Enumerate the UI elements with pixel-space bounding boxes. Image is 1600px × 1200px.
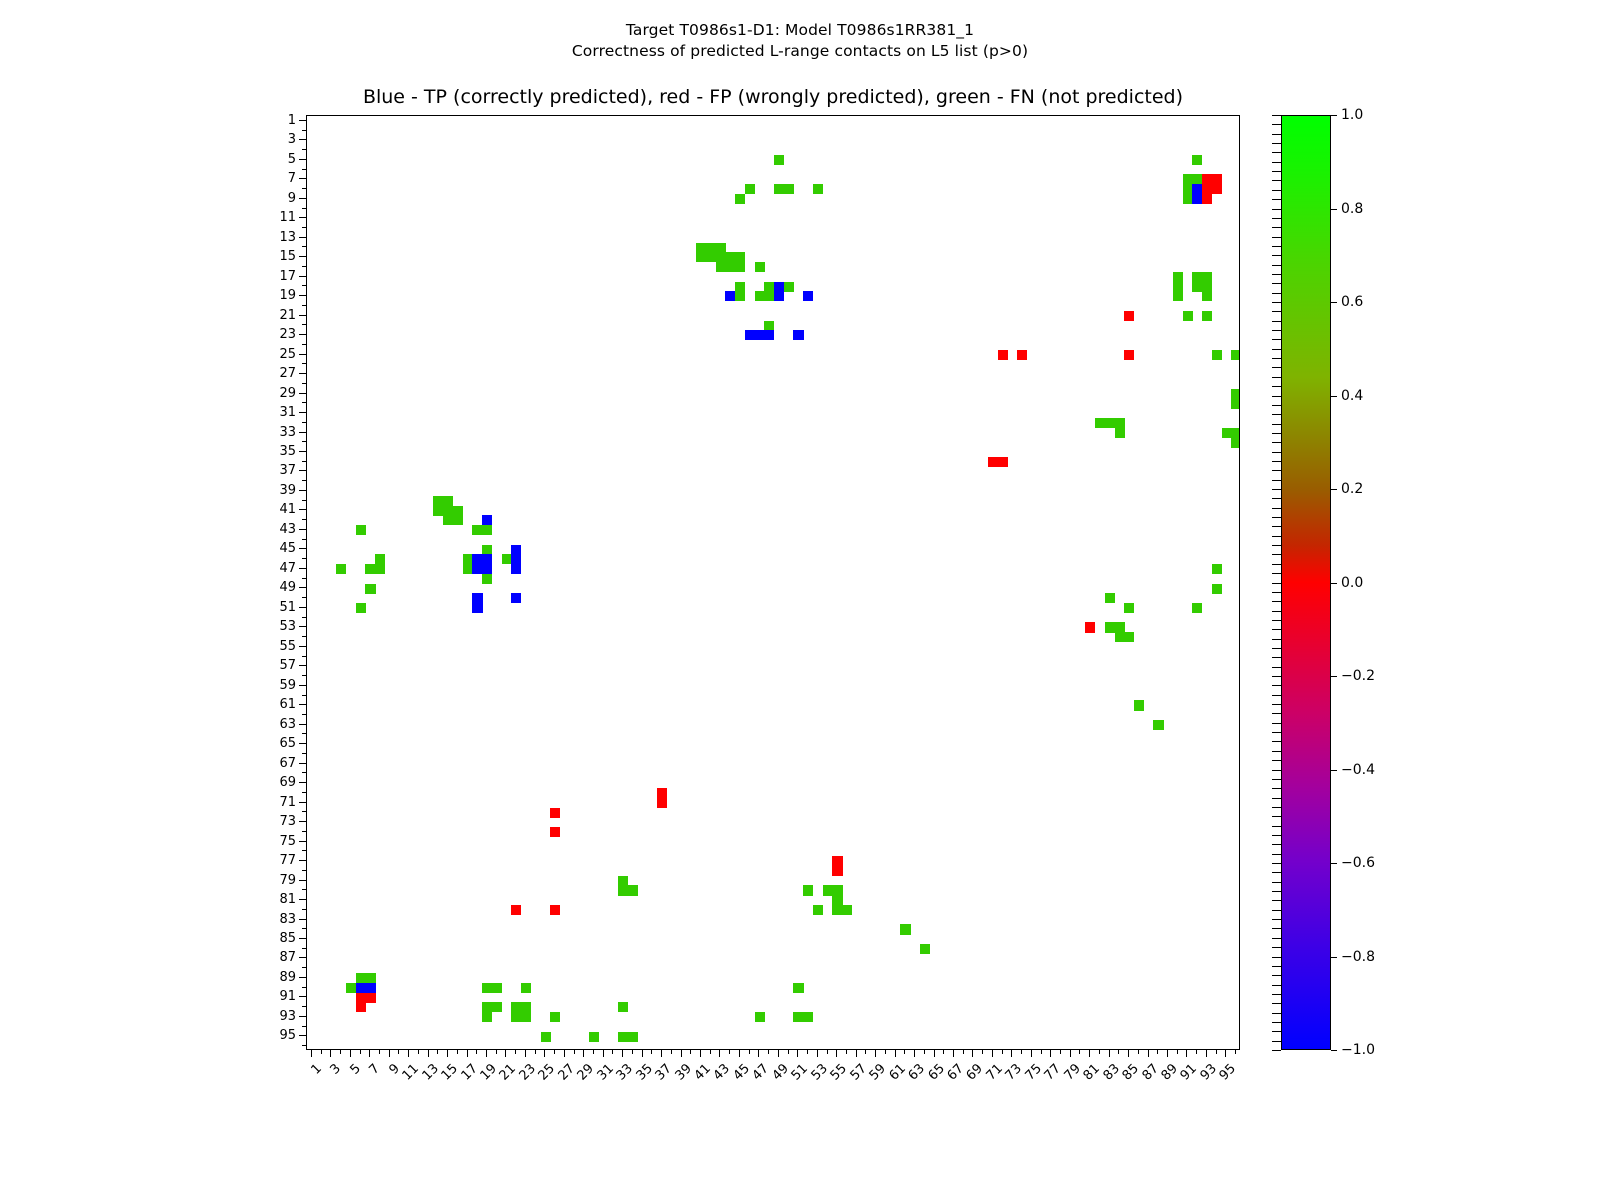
contact-cell-fn — [482, 1002, 492, 1012]
contact-cell-fn — [1124, 632, 1134, 642]
contact-cell-fn — [793, 1012, 803, 1022]
colorbar-minor-tick — [1272, 190, 1281, 191]
contact-cell-fn — [482, 983, 492, 993]
colorbar-minor-tick — [1272, 676, 1281, 677]
contact-cell-fn — [832, 905, 842, 915]
colorbar-minor-tick — [1272, 1003, 1281, 1004]
x-tick-18 — [476, 1050, 477, 1054]
contact-cell-tp — [725, 291, 735, 301]
y-tick-95 — [299, 1035, 306, 1036]
colorbar-minor-tick — [1272, 835, 1281, 836]
x-tick-50 — [788, 1050, 789, 1054]
x-tick-16 — [457, 1050, 458, 1054]
colorbar-tick--0.2 — [1331, 676, 1337, 677]
colorbar-minor-tick — [1272, 732, 1281, 733]
x-tick-28 — [574, 1050, 575, 1054]
colorbar-tick-0.0 — [1331, 583, 1337, 584]
contact-cell-fn — [463, 554, 473, 564]
figure-title-line-1: Target T0986s1-D1: Model T0986s1RR381_1 — [0, 20, 1600, 41]
y-tick-label-51: 51 — [248, 601, 296, 614]
y-tick-94 — [302, 1026, 306, 1027]
colorbar-minor-tick — [1272, 601, 1281, 602]
x-tick-94 — [1216, 1050, 1217, 1054]
contact-cell-fn — [1212, 584, 1222, 594]
y-tick-62 — [302, 714, 306, 715]
x-tick-33 — [622, 1050, 623, 1057]
contact-cell-fn — [735, 282, 745, 292]
y-tick-17 — [299, 276, 306, 277]
contact-cell-fn — [375, 554, 385, 564]
colorbar-minor-tick — [1272, 405, 1281, 406]
x-tick-69 — [972, 1050, 973, 1057]
x-tick-85 — [1128, 1050, 1129, 1057]
x-tick-20 — [496, 1050, 497, 1054]
x-tick-44 — [729, 1050, 730, 1054]
contact-cell-fn — [365, 973, 375, 983]
y-tick-59 — [299, 685, 306, 686]
contact-cell-tp — [472, 603, 482, 613]
x-tick-84 — [1118, 1050, 1119, 1054]
contact-cell-fn — [813, 184, 823, 194]
colorbar-minor-tick — [1272, 536, 1281, 537]
colorbar-minor-tick — [1272, 508, 1281, 509]
colorbar-minor-tick — [1272, 489, 1281, 490]
y-tick-47 — [299, 568, 306, 569]
contact-cell-fn — [1095, 418, 1105, 428]
y-tick-53 — [299, 626, 306, 627]
y-tick-label-31: 31 — [248, 406, 296, 419]
x-tick-70 — [982, 1050, 983, 1054]
y-tick-21 — [299, 315, 306, 316]
colorbar-minor-tick — [1272, 611, 1281, 612]
y-tick-44 — [302, 539, 306, 540]
y-tick-2 — [302, 130, 306, 131]
contact-cell-tp — [511, 564, 521, 574]
contact-cell-fn — [356, 525, 366, 535]
contact-cell-fp — [1212, 174, 1222, 184]
colorbar-tick-label--1.0: −1.0 — [1341, 1043, 1375, 1057]
x-tick-81 — [1089, 1050, 1090, 1057]
y-tick-26 — [302, 363, 306, 364]
y-tick-label-25: 25 — [248, 348, 296, 361]
x-tick-11 — [408, 1050, 409, 1057]
x-tick-31 — [603, 1050, 604, 1057]
contact-cell-fn — [628, 885, 638, 895]
contact-cell-fp — [356, 1002, 366, 1012]
contact-cell-fn — [521, 983, 531, 993]
x-tick-90 — [1177, 1050, 1178, 1054]
colorbar-tick-label-0.6: 0.6 — [1341, 295, 1363, 309]
colorbar-minor-tick — [1272, 265, 1281, 266]
contact-cell-fn — [1192, 174, 1202, 184]
contact-cell-fn — [472, 525, 482, 535]
colorbar-minor-tick — [1272, 639, 1281, 640]
y-tick-label-3: 3 — [248, 133, 296, 146]
contact-cell-tp — [1192, 184, 1202, 194]
x-tick-6 — [360, 1050, 361, 1054]
y-tick-label-83: 83 — [248, 913, 296, 926]
contact-cell-fn — [1231, 428, 1240, 438]
x-tick-1 — [311, 1050, 312, 1057]
contact-cell-tp — [472, 554, 482, 564]
y-tick-label-71: 71 — [248, 796, 296, 809]
x-tick-12 — [418, 1050, 419, 1054]
colorbar-minor-tick — [1272, 564, 1281, 565]
x-tick-55 — [836, 1050, 837, 1057]
x-tick-22 — [515, 1050, 516, 1054]
y-tick-84 — [302, 928, 306, 929]
contact-cell-fn — [618, 1002, 628, 1012]
x-tick-15 — [447, 1050, 448, 1057]
colorbar-tick-label-1.0: 1.0 — [1341, 108, 1363, 122]
y-tick-label-87: 87 — [248, 951, 296, 964]
colorbar-minor-tick — [1272, 199, 1281, 200]
contact-cell-fn — [735, 291, 745, 301]
contact-cell-fn — [1115, 428, 1125, 438]
colorbar-minor-tick — [1272, 115, 1281, 116]
colorbar-minor-tick — [1272, 620, 1281, 621]
contact-cell-fn — [1173, 272, 1183, 282]
axes-legend-title: Blue - TP (correctly predicted), red - F… — [306, 86, 1240, 108]
contact-cell-fn — [541, 1032, 551, 1042]
y-tick-64 — [302, 733, 306, 734]
colorbar-minor-tick — [1272, 526, 1281, 527]
y-tick-9 — [299, 198, 306, 199]
x-tick-57 — [856, 1050, 857, 1057]
colorbar-minor-tick — [1272, 629, 1281, 630]
contact-cell-fn — [842, 905, 852, 915]
y-tick-38 — [302, 480, 306, 481]
colorbar-tick--0.8 — [1331, 957, 1337, 958]
y-tick-14 — [302, 246, 306, 247]
y-tick-42 — [302, 519, 306, 520]
contact-cell-fn — [492, 983, 502, 993]
x-tick-36 — [651, 1050, 652, 1054]
x-tick-47 — [758, 1050, 759, 1057]
x-tick-59 — [875, 1050, 876, 1057]
y-tick-58 — [302, 675, 306, 676]
y-tick-label-61: 61 — [248, 698, 296, 711]
x-tick-2 — [321, 1050, 322, 1054]
x-tick-40 — [690, 1050, 691, 1054]
contact-cell-fn — [511, 1012, 521, 1022]
colorbar-minor-tick — [1272, 573, 1281, 574]
y-tick-86 — [302, 948, 306, 949]
contact-cell-fn — [1192, 282, 1202, 292]
x-tick-86 — [1138, 1050, 1139, 1054]
contact-cell-fn — [784, 184, 794, 194]
contact-cell-fn — [716, 243, 726, 253]
colorbar-minor-tick — [1272, 218, 1281, 219]
y-tick-label-35: 35 — [248, 445, 296, 458]
colorbar-minor-tick — [1272, 339, 1281, 340]
contact-cell-fp — [1124, 350, 1134, 360]
contact-cell-fn — [443, 506, 453, 516]
y-tick-8 — [302, 188, 306, 189]
y-tick-70 — [302, 792, 306, 793]
y-tick-78 — [302, 870, 306, 871]
x-tick-65 — [934, 1050, 935, 1057]
colorbar-tick-label-0.2: 0.2 — [1341, 482, 1363, 496]
colorbar-tick-1.0 — [1331, 115, 1337, 116]
x-tick-56 — [846, 1050, 847, 1054]
colorbar-minor-tick — [1272, 695, 1281, 696]
x-tick-82 — [1099, 1050, 1100, 1054]
contact-cell-fn — [502, 554, 512, 564]
colorbar-minor-tick — [1272, 770, 1281, 771]
contact-cell-fp — [511, 905, 521, 915]
colorbar-tick--1.0 — [1331, 1050, 1337, 1051]
colorbar-minor-tick — [1272, 171, 1281, 172]
contact-cell-fn — [735, 252, 745, 262]
contact-cell-fn — [521, 1012, 531, 1022]
x-tick-37 — [661, 1050, 662, 1057]
colorbar-minor-tick — [1272, 1013, 1281, 1014]
x-tick-89 — [1167, 1050, 1168, 1057]
x-tick-88 — [1157, 1050, 1158, 1054]
contact-cell-tp — [482, 564, 492, 574]
contact-cell-fn — [1105, 593, 1115, 603]
contact-cell-fn — [1115, 622, 1125, 632]
colorbar-minor-tick — [1272, 134, 1281, 135]
contact-cell-fn — [706, 243, 716, 253]
colorbar-minor-tick — [1272, 751, 1281, 752]
colorbar-minor-tick — [1272, 367, 1281, 368]
y-tick-72 — [302, 811, 306, 812]
contact-cell-fn — [803, 1012, 813, 1022]
colorbar-tick-label-0.4: 0.4 — [1341, 389, 1363, 403]
x-tick-5 — [350, 1050, 351, 1057]
y-tick-label-57: 57 — [248, 659, 296, 672]
contact-cell-tp — [745, 330, 755, 340]
x-tick-45 — [739, 1050, 740, 1057]
contact-cell-fp — [1085, 622, 1095, 632]
contact-cell-fn — [1202, 311, 1212, 321]
contact-cell-fn — [755, 262, 765, 272]
colorbar-minor-tick — [1272, 283, 1281, 284]
x-tick-79 — [1070, 1050, 1071, 1057]
y-tick-34 — [302, 441, 306, 442]
y-tick-label-53: 53 — [248, 620, 296, 633]
contact-cell-fp — [832, 856, 842, 866]
contact-cell-fn — [433, 496, 443, 506]
colorbar-minor-tick — [1272, 1041, 1281, 1042]
contact-cell-fn — [774, 184, 784, 194]
y-tick-15 — [299, 256, 306, 257]
x-tick-61 — [895, 1050, 896, 1057]
contact-cell-fn — [900, 924, 910, 934]
y-tick-56 — [302, 656, 306, 657]
y-tick-90 — [302, 987, 306, 988]
colorbar-tick--0.4 — [1331, 770, 1337, 771]
contact-cell-fp — [1017, 350, 1027, 360]
y-tick-88 — [302, 967, 306, 968]
contact-cell-fn — [755, 291, 765, 301]
y-tick-3 — [299, 139, 306, 140]
x-tick-8 — [379, 1050, 380, 1054]
contact-cell-fn — [764, 291, 774, 301]
y-tick-12 — [302, 227, 306, 228]
y-tick-51 — [299, 607, 306, 608]
y-tick-label-37: 37 — [248, 464, 296, 477]
contact-cell-tp — [482, 515, 492, 525]
colorbar-tick-label-0.0: 0.0 — [1341, 576, 1363, 590]
contact-cell-fp — [550, 905, 560, 915]
contact-cell-fn — [1212, 564, 1222, 574]
y-tick-1 — [299, 120, 306, 121]
colorbar-minor-tick — [1272, 667, 1281, 668]
y-tick-82 — [302, 909, 306, 910]
y-tick-33 — [299, 432, 306, 433]
y-tick-label-33: 33 — [248, 426, 296, 439]
y-tick-93 — [299, 1016, 306, 1017]
colorbar-minor-tick — [1272, 227, 1281, 228]
x-tick-64 — [924, 1050, 925, 1054]
contact-cell-tp — [482, 554, 492, 564]
colorbar-minor-tick — [1272, 900, 1281, 901]
x-tick-32 — [612, 1050, 613, 1054]
y-tick-label-63: 63 — [248, 718, 296, 731]
colorbar-minor-tick — [1272, 517, 1281, 518]
contact-cell-fp — [657, 788, 667, 798]
colorbar-minor-tick — [1272, 938, 1281, 939]
y-tick-label-17: 17 — [248, 270, 296, 283]
colorbar-tick-0.4 — [1331, 396, 1337, 397]
colorbar-minor-tick — [1272, 713, 1281, 714]
contact-cell-fn — [1134, 700, 1144, 710]
x-tick-66 — [943, 1050, 944, 1054]
y-tick-4 — [302, 149, 306, 150]
y-tick-6 — [302, 169, 306, 170]
contact-cell-fp — [657, 798, 667, 808]
colorbar-minor-tick — [1272, 311, 1281, 312]
contact-cell-fn — [832, 885, 842, 895]
y-tick-label-75: 75 — [248, 835, 296, 848]
contact-cell-tp — [511, 593, 521, 603]
colorbar-minor-tick — [1272, 386, 1281, 387]
contact-cell-fn — [521, 1002, 531, 1012]
x-tick-53 — [817, 1050, 818, 1057]
contact-cell-fn — [482, 545, 492, 555]
contact-cell-fn — [725, 252, 735, 262]
colorbar-minor-tick — [1272, 975, 1281, 976]
colorbar-minor-tick — [1272, 826, 1281, 827]
colorbar-minor-tick — [1272, 704, 1281, 705]
y-tick-label-65: 65 — [248, 737, 296, 750]
y-tick-label-89: 89 — [248, 971, 296, 984]
x-tick-30 — [593, 1050, 594, 1054]
contact-cell-fn — [1231, 398, 1240, 408]
x-tick-41 — [700, 1050, 701, 1057]
x-tick-72 — [1002, 1050, 1003, 1054]
colorbar-minor-tick — [1272, 723, 1281, 724]
colorbar-tick--0.6 — [1331, 863, 1337, 864]
colorbar — [1281, 115, 1331, 1050]
x-tick-25 — [544, 1050, 545, 1057]
y-tick-81 — [299, 899, 306, 900]
colorbar-minor-tick — [1272, 985, 1281, 986]
y-tick-37 — [299, 470, 306, 471]
y-tick-43 — [299, 529, 306, 530]
colorbar-minor-tick — [1272, 545, 1281, 546]
contact-cell-fn — [1202, 291, 1212, 301]
x-tick-63 — [914, 1050, 915, 1057]
y-tick-label-67: 67 — [248, 757, 296, 770]
contact-cell-tp — [774, 282, 784, 292]
contact-cell-tp — [803, 291, 813, 301]
colorbar-minor-tick — [1272, 396, 1281, 397]
y-tick-label-7: 7 — [248, 172, 296, 185]
x-tick-4 — [340, 1050, 341, 1054]
colorbar-minor-tick — [1272, 798, 1281, 799]
contact-cell-fp — [1124, 311, 1134, 321]
y-tick-41 — [299, 509, 306, 510]
colorbar-minor-tick — [1272, 966, 1281, 967]
y-tick-label-15: 15 — [248, 250, 296, 263]
contact-cell-fn — [453, 515, 463, 525]
contact-cell-fn — [706, 252, 716, 262]
contact-cell-fn — [618, 876, 628, 886]
y-tick-label-5: 5 — [248, 153, 296, 166]
colorbar-minor-tick — [1272, 424, 1281, 425]
y-tick-40 — [302, 500, 306, 501]
x-tick-21 — [505, 1050, 506, 1057]
contact-cell-fn — [346, 983, 356, 993]
contact-cell-tp — [774, 291, 784, 301]
y-tick-label-47: 47 — [248, 562, 296, 575]
y-tick-10 — [302, 208, 306, 209]
y-tick-23 — [299, 334, 306, 335]
x-tick-19 — [486, 1050, 487, 1057]
y-tick-48 — [302, 578, 306, 579]
contact-cell-fn — [716, 262, 726, 272]
contact-cell-fn — [618, 885, 628, 895]
colorbar-minor-tick — [1272, 321, 1281, 322]
y-tick-76 — [302, 850, 306, 851]
colorbar-minor-tick — [1272, 872, 1281, 873]
x-tick-10 — [398, 1050, 399, 1054]
colorbar-minor-tick — [1272, 863, 1281, 864]
x-tick-60 — [885, 1050, 886, 1054]
colorbar-minor-tick — [1272, 180, 1281, 181]
contact-cell-fn — [443, 515, 453, 525]
y-tick-label-93: 93 — [248, 1010, 296, 1023]
contact-map-plot — [306, 115, 1240, 1050]
contact-cell-fn — [1202, 282, 1212, 292]
x-tick-14 — [437, 1050, 438, 1054]
y-tick-68 — [302, 772, 306, 773]
x-tick-26 — [554, 1050, 555, 1054]
x-tick-76 — [1041, 1050, 1042, 1054]
colorbar-minor-tick — [1272, 349, 1281, 350]
x-tick-74 — [1021, 1050, 1022, 1054]
x-tick-62 — [904, 1050, 905, 1054]
colorbar-tick-0.2 — [1331, 489, 1337, 490]
x-tick-48 — [768, 1050, 769, 1054]
x-tick-52 — [807, 1050, 808, 1054]
y-tick-85 — [299, 938, 306, 939]
colorbar-minor-tick — [1272, 358, 1281, 359]
contact-cell-fn — [365, 564, 375, 574]
x-tick-46 — [749, 1050, 750, 1054]
y-tick-61 — [299, 704, 306, 705]
y-tick-71 — [299, 802, 306, 803]
contact-cell-fn — [589, 1032, 599, 1042]
colorbar-minor-tick — [1272, 1031, 1281, 1032]
figure-title-line-2: Correctness of predicted L-range contact… — [0, 41, 1600, 62]
y-tick-16 — [302, 266, 306, 267]
y-tick-label-1: 1 — [248, 114, 296, 127]
